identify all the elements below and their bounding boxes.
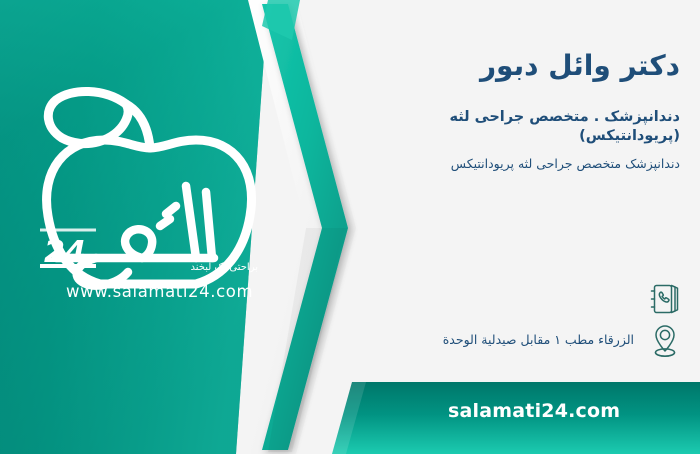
- contact-row-phone[interactable]: [386, 278, 686, 320]
- phone-book-icon: [644, 278, 686, 320]
- specialty-primary: دندانپزشک . متخصص جراحی لثه (پریودانتیکس…: [390, 108, 680, 146]
- map-pin-icon: [644, 320, 686, 362]
- logo-tagline: براحتی یک لبخند: [148, 262, 258, 273]
- contact-row-address[interactable]: الزرقاء مطب ١ مقابل صيدلية الوحدة: [386, 320, 686, 362]
- doctor-name: دکتر وائل دبور: [390, 48, 680, 83]
- logo-url[interactable]: www.salamati24.com: [66, 282, 253, 301]
- contact-address-text: الزرقاء مطب ١ مقابل صيدلية الوحدة: [443, 331, 634, 351]
- business-card: 24 براحتی یک لبخند www.salamati24.com دک…: [0, 0, 700, 454]
- footer-website[interactable]: salamati24.com: [448, 400, 620, 422]
- specialty-secondary: دندانپزشک متخصص جراحی لثه پریودانتیکس: [390, 156, 680, 172]
- contact-block: الزرقاء مطب ١ مقابل صيدلية الوحدة: [386, 278, 686, 362]
